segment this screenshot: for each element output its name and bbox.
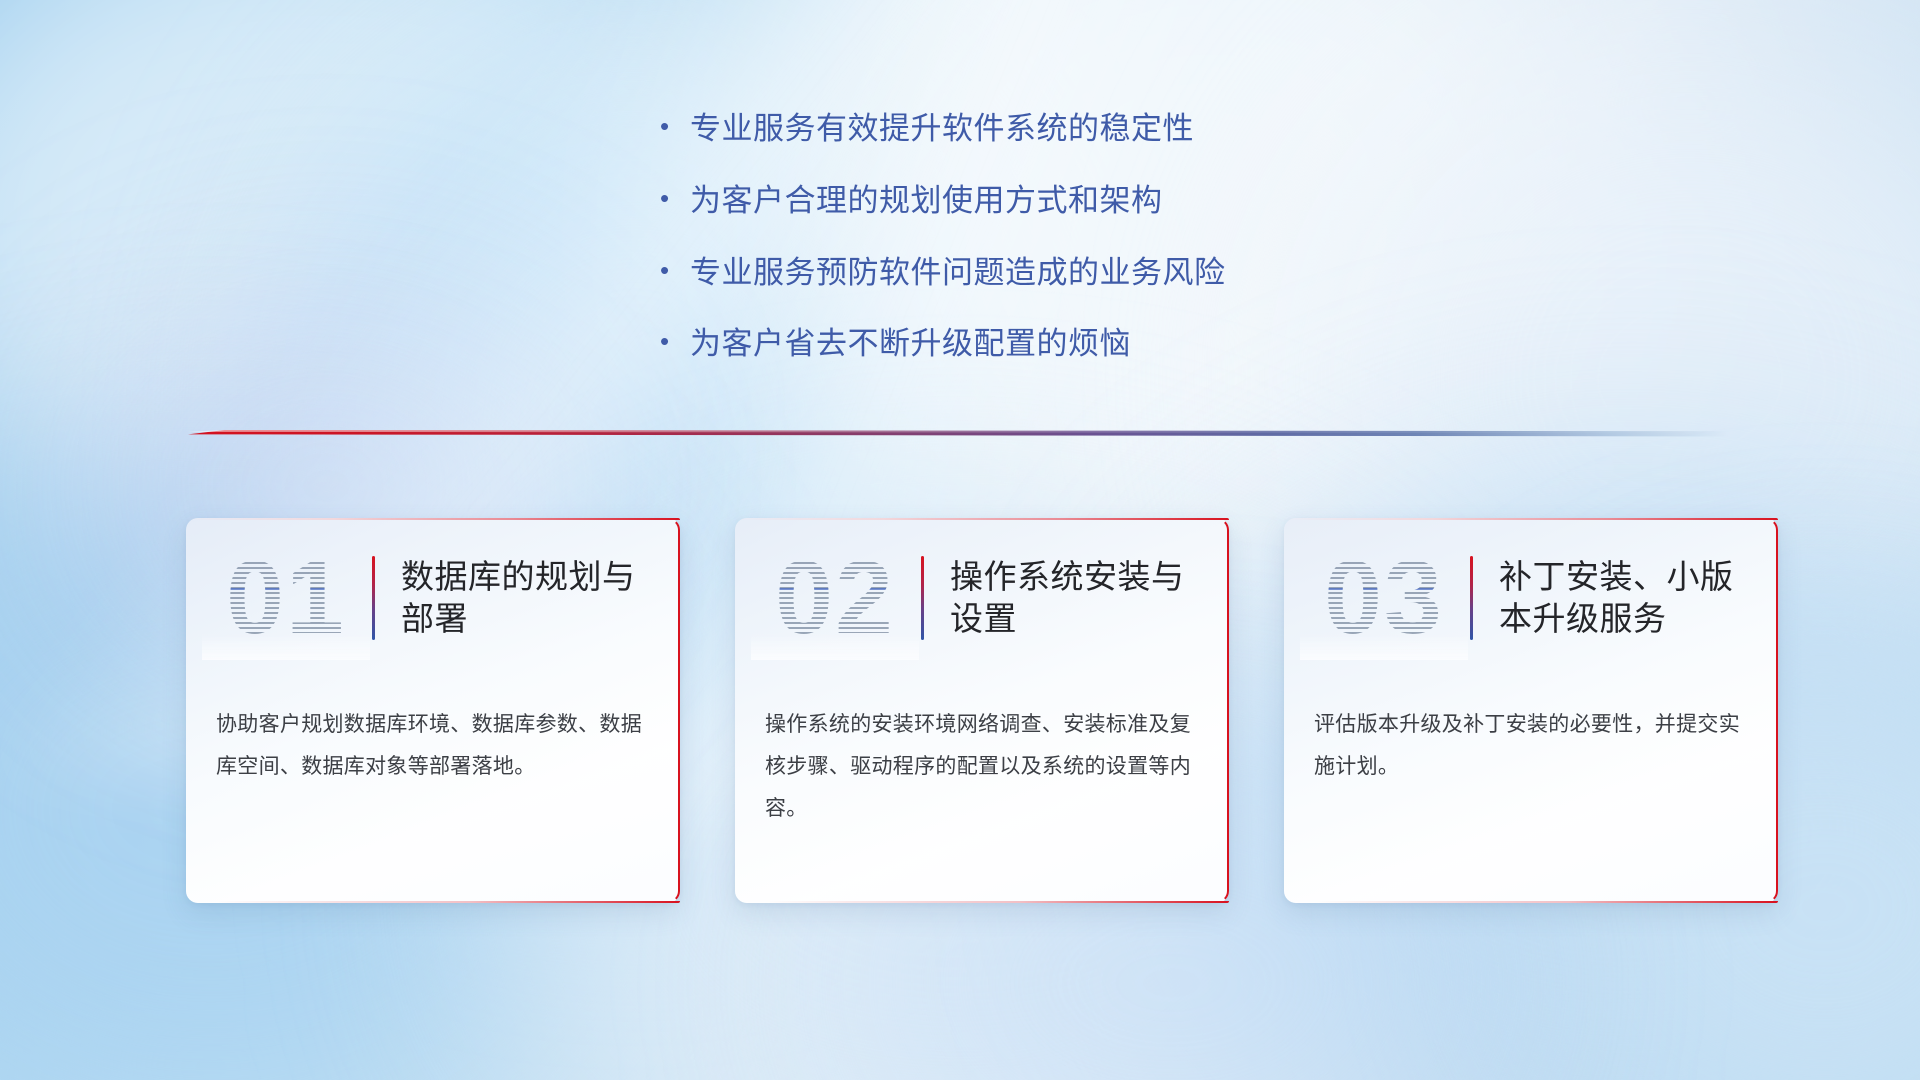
bullet-marker-icon: •: [660, 110, 690, 144]
card-header: 0101 数据库的规划与部署: [186, 518, 680, 656]
service-card-02[interactable]: 0202 操作系统安装与设置 操作系统的安装环境网络调查、安装标准及复核步骤、驱…: [735, 518, 1229, 903]
bullet-text-1: 专业服务有效提升软件系统的稳定性: [690, 110, 1420, 149]
card-header: 0202 操作系统安装与设置: [735, 518, 1229, 656]
bullet-text-4: 为客户省去不断升级配置的烦恼: [690, 325, 1420, 364]
bullet-marker-icon: •: [660, 325, 690, 359]
section-divider: [188, 428, 1728, 440]
service-card-01[interactable]: 0101 数据库的规划与部署 协助客户规划数据库环境、数据库参数、数据库空间、数…: [186, 518, 680, 903]
bullet-item-1: • 专业服务有效提升软件系统的稳定性: [660, 110, 1420, 149]
card-title-01: 数据库的规划与部署: [401, 556, 654, 640]
service-card-03[interactable]: 0303 补丁安装、小版本升级服务 评估版本升级及补丁安装的必要性，并提交实施计…: [1284, 518, 1778, 903]
card-bottom-accent-line: [765, 901, 1229, 903]
benefits-bullet-list: • 专业服务有效提升软件系统的稳定性 • 为客户合理的规划使用方式和架构 • 专…: [660, 110, 1420, 397]
card-divider-bar: [1470, 556, 1473, 640]
card-body-02: 操作系统的安装环境网络调查、安装标准及复核步骤、驱动程序的配置以及系统的设置等内…: [735, 656, 1229, 830]
bullet-item-3: • 专业服务预防软件问题造成的业务风险: [660, 254, 1420, 293]
card-header: 0303 补丁安装、小版本升级服务: [1284, 518, 1778, 656]
service-card-list: 0101 数据库的规划与部署 协助客户规划数据库环境、数据库参数、数据库空间、数…: [186, 518, 1778, 903]
bullet-marker-icon: •: [660, 254, 690, 288]
bullet-text-2: 为客户合理的规划使用方式和架构: [690, 182, 1420, 221]
card-number-03: 0303: [1300, 542, 1468, 654]
card-divider-bar: [372, 556, 375, 640]
card-body-03: 评估版本升级及补丁安装的必要性，并提交实施计划。: [1284, 656, 1778, 788]
card-number-color-stripes: 03: [1300, 542, 1468, 654]
bullet-text-3: 专业服务预防软件问题造成的业务风险: [690, 254, 1420, 293]
card-title-02: 操作系统安装与设置: [950, 556, 1203, 640]
bullet-item-2: • 为客户合理的规划使用方式和架构: [660, 182, 1420, 221]
card-body-01: 协助客户规划数据库环境、数据库参数、数据库空间、数据库对象等部署落地。: [186, 656, 680, 788]
card-number-color-stripes: 01: [202, 542, 370, 654]
card-number-color-stripes: 02: [751, 542, 919, 654]
card-number-02: 0202: [751, 542, 919, 654]
card-divider-bar: [921, 556, 924, 640]
card-bottom-accent-line: [1314, 901, 1778, 903]
card-number-01: 0101: [202, 542, 370, 654]
bullet-marker-icon: •: [660, 182, 690, 216]
card-bottom-accent-line: [216, 901, 680, 903]
bullet-item-4: • 为客户省去不断升级配置的烦恼: [660, 325, 1420, 364]
card-title-03: 补丁安装、小版本升级服务: [1499, 556, 1752, 640]
